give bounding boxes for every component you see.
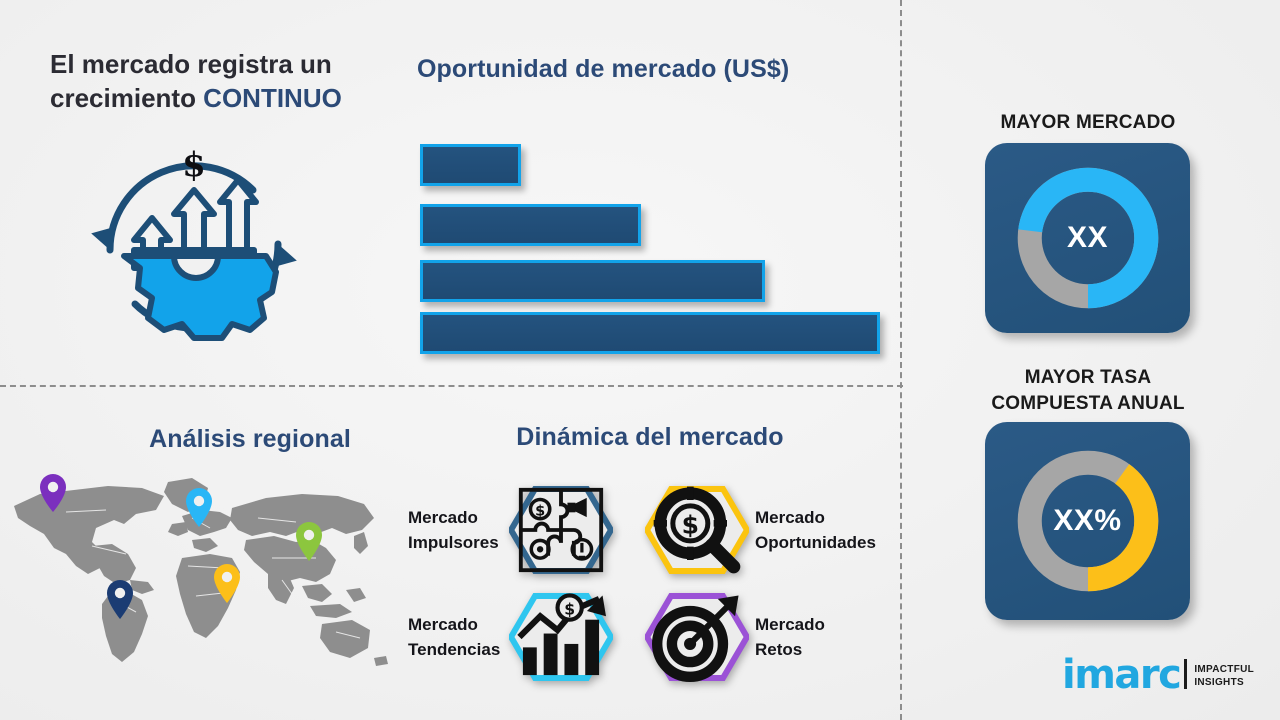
imarc-tagline-line2: INSIGHTS: [1194, 677, 1254, 690]
dynamics-item-drivers[interactable]: Mercado Impulsores $: [408, 485, 613, 575]
horizontal-divider: [0, 385, 903, 387]
puzzle-drivers-icon: $: [509, 485, 613, 575]
highest-cagr-value: XX%: [1012, 445, 1164, 597]
bar-2: [420, 204, 641, 246]
largest-market-value: XX: [1012, 162, 1164, 314]
imarc-wordmark: imarc: [1062, 658, 1180, 692]
bar-1: [420, 144, 521, 186]
svg-text:$: $: [682, 510, 699, 539]
opportunity-title: Oportunidad de mercado (US$): [417, 55, 887, 84]
magnifier-dollar-icon: $: [645, 485, 749, 575]
target-arrow-icon: [645, 592, 749, 682]
growth-title: El mercado registra un crecimiento CONTI…: [50, 47, 390, 116]
dynamics-item-trends[interactable]: Mercado Tendencias $: [408, 592, 613, 682]
imarc-tagline: IMPACTFUL INSIGHTS: [1194, 664, 1254, 689]
highest-cagr-title-line2: COMPUESTA ANUAL: [958, 391, 1218, 417]
growth-title-line2: crecimiento CONTINUO: [50, 81, 390, 115]
largest-market-card: XX: [985, 143, 1190, 333]
imarc-tagline-line1: IMPACTFUL: [1194, 664, 1254, 677]
dollar-symbol: $: [182, 145, 206, 185]
imarc-logo: imarc IMPACTFUL INSIGHTS: [1062, 658, 1254, 692]
highest-cagr-title: MAYOR TASA COMPUESTA ANUAL: [958, 365, 1218, 416]
opportunity-bar-chart: [420, 144, 880, 356]
largest-market-donut: XX: [1012, 162, 1164, 314]
infographic-canvas: El mercado registra un crecimiento CONTI…: [0, 0, 1280, 720]
growth-chart-icon: $: [509, 592, 613, 682]
regional-title: Análisis regional: [100, 425, 400, 454]
growth-gear-arrows-icon: $: [78, 132, 310, 362]
dynamics-item-challenges[interactable]: Mercado Retos: [645, 592, 865, 682]
growth-title-line2-accent: CONTINUO: [203, 83, 342, 113]
dynamics-title: Dinámica del mercado: [450, 423, 850, 452]
svg-text:$: $: [535, 504, 545, 520]
logo-divider: [1184, 659, 1187, 689]
vertical-divider: [900, 0, 902, 720]
largest-market-title: MAYOR MERCADO: [958, 110, 1218, 136]
dynamics-item-opportunities[interactable]: $ Mercado Oportunidades: [645, 485, 885, 575]
highest-cagr-title-line1: MAYOR TASA: [958, 365, 1218, 391]
world-map: [0, 462, 396, 672]
dynamics-item-challenges-label: Mercado Retos: [755, 612, 865, 663]
highest-cagr-donut: XX%: [1012, 445, 1164, 597]
growth-title-line2-plain: crecimiento: [50, 83, 203, 113]
highest-cagr-card: XX%: [985, 422, 1190, 620]
bar-4: [420, 312, 880, 354]
growth-title-line1: El mercado registra un: [50, 47, 390, 81]
dynamics-item-drivers-label: Mercado Impulsores: [408, 505, 503, 556]
bar-3: [420, 260, 765, 302]
svg-text:$: $: [564, 601, 575, 619]
dynamics-item-trends-label: Mercado Tendencias: [408, 612, 503, 663]
dynamics-item-opportunities-label: Mercado Oportunidades: [755, 505, 885, 556]
